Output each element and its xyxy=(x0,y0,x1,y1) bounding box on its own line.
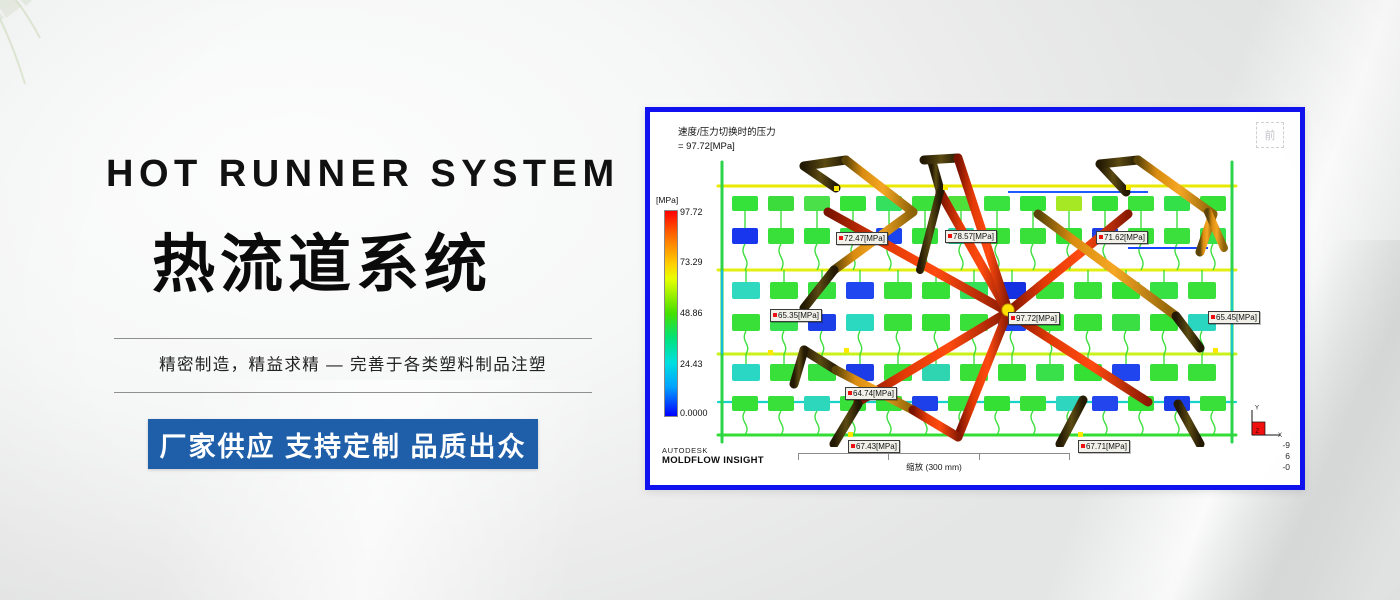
scale-bar-label: 缩放 (300 mm) xyxy=(798,461,1070,473)
banner-title-cn: 热流道系统 xyxy=(152,228,572,302)
view-orientation-label[interactable]: 前 xyxy=(1256,122,1284,148)
callout-value[interactable]: 78.57[MPa] xyxy=(945,230,997,243)
scale-bar: 缩放 (300 mm) xyxy=(798,451,1070,473)
legend-unit: [MPa] xyxy=(656,195,678,205)
callout-value[interactable]: 71.62[MPa] xyxy=(1096,231,1148,244)
axis-readout-z: -0 xyxy=(1282,462,1290,473)
axis-readout: -9 6 -0 xyxy=(1282,440,1290,473)
svg-text:Z: Z xyxy=(1256,429,1260,435)
legend-tick-0: 97.72 xyxy=(680,207,703,217)
divider-top xyxy=(114,338,592,339)
banner-badge-label: 厂家供应 支持定制 品质出众 xyxy=(159,425,526,464)
mold-layout-plot: 72.47[MPa] 78.57[MPa] 71.62[MPa] 65.35[M… xyxy=(708,152,1248,442)
axis-readout-y: 6 xyxy=(1282,451,1290,462)
banner-badge[interactable]: 厂家供应 支持定制 品质出众 xyxy=(148,419,538,469)
legend-tick-4: 0.0000 xyxy=(680,408,708,418)
legend-tick-1: 73.29 xyxy=(680,257,703,267)
divider-bottom xyxy=(114,392,592,393)
legend-tick-2: 48.86 xyxy=(680,308,703,318)
axis-readout-x: -9 xyxy=(1282,440,1290,451)
callout-value[interactable]: 72.47[MPa] xyxy=(836,232,888,245)
callout-value[interactable]: 65.35[MPa] xyxy=(770,309,822,322)
result-title: 速度/压力切换时的压力 = 97.72[MPa] xyxy=(678,126,776,154)
callout-value[interactable]: 64.74[MPa] xyxy=(845,387,897,400)
moldflow-screenshot: 速度/压力切换时的压力 = 97.72[MPa] 前 [MPa] 97.72 7… xyxy=(645,107,1305,490)
axis-triad-icon: Y X Z xyxy=(1246,405,1286,441)
autodesk-branding: AUTODESK MOLDFLOW INSIGHT xyxy=(662,447,764,467)
mold-layout-svg xyxy=(708,152,1248,447)
banner-stage: HOT RUNNER SYSTEM 热流道系统 精密制造，精益求精 — 完善于各… xyxy=(0,0,1400,600)
svg-text:Y: Y xyxy=(1255,406,1259,412)
banner-text-block: HOT RUNNER SYSTEM 热流道系统 精密制造，精益求精 — 完善于各… xyxy=(0,0,620,600)
brand-line-2: MOLDFLOW INSIGHT xyxy=(662,456,764,467)
callout-value[interactable]: 65.45[MPa] xyxy=(1208,311,1260,324)
callout-value-max[interactable]: 97.72[MPa] xyxy=(1008,312,1060,325)
moldflow-canvas: 速度/压力切换时的压力 = 97.72[MPa] 前 [MPa] 97.72 7… xyxy=(650,112,1300,485)
scale-bar-ticks xyxy=(798,451,1070,460)
legend-tick-3: 24.43 xyxy=(680,359,703,369)
banner-tagline: 精密制造，精益求精 — 完善于各类塑料制品注塑 xyxy=(114,352,592,378)
banner-eyebrow: HOT RUNNER SYSTEM xyxy=(106,155,606,193)
svg-text:X: X xyxy=(1278,433,1282,439)
legend-colorbar xyxy=(664,210,678,417)
callout-value[interactable]: 67.71[MPa] xyxy=(1078,440,1130,453)
